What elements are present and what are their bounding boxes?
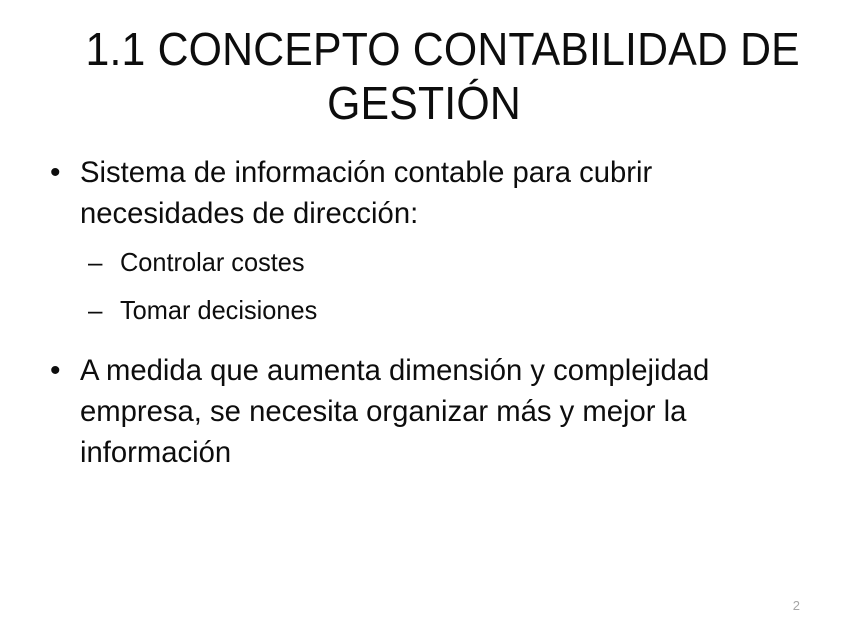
bullet-item-2-text: A medida que aumenta dimensión y complej… [80,350,763,473]
sub-bullet-item-1-text: Controlar costes [120,238,305,286]
sub-bullet-marker-dash-icon: – [88,286,116,334]
bullet-marker-dot-icon: • [50,350,72,391]
bullet-item-1: • Sistema de información contable para c… [44,152,780,234]
slide-number: 2 [793,598,800,614]
sub-bullet-item-2: – Tomar decisiones [44,286,816,334]
bullet-item-2: • A medida que aumenta dimensión y compl… [44,350,780,473]
sub-bullet-marker-dash-icon: – [88,238,116,286]
slide-body-content: • Sistema de información contable para c… [44,152,816,475]
slide-title-line-1: 1.1 CONCEPTO CONTABILIDAD DE [85,22,762,76]
bullet-item-1-text: Sistema de información contable para cub… [80,152,763,234]
slide-title-line-2: GESTIÓN [85,76,762,130]
bullet-marker-dot-icon: • [50,152,72,193]
sub-bullet-item-1: – Controlar costes [44,238,816,286]
slide-title: 1.1 CONCEPTO CONTABILIDAD DE GESTIÓN [60,22,788,130]
bullet-spacer [44,340,816,350]
slide-canvas: 1.1 CONCEPTO CONTABILIDAD DE GESTIÓN • S… [0,0,848,636]
sub-bullet-item-2-text: Tomar decisiones [120,286,317,334]
sub-bullet-list: – Controlar costes – Tomar decisiones [44,238,816,334]
